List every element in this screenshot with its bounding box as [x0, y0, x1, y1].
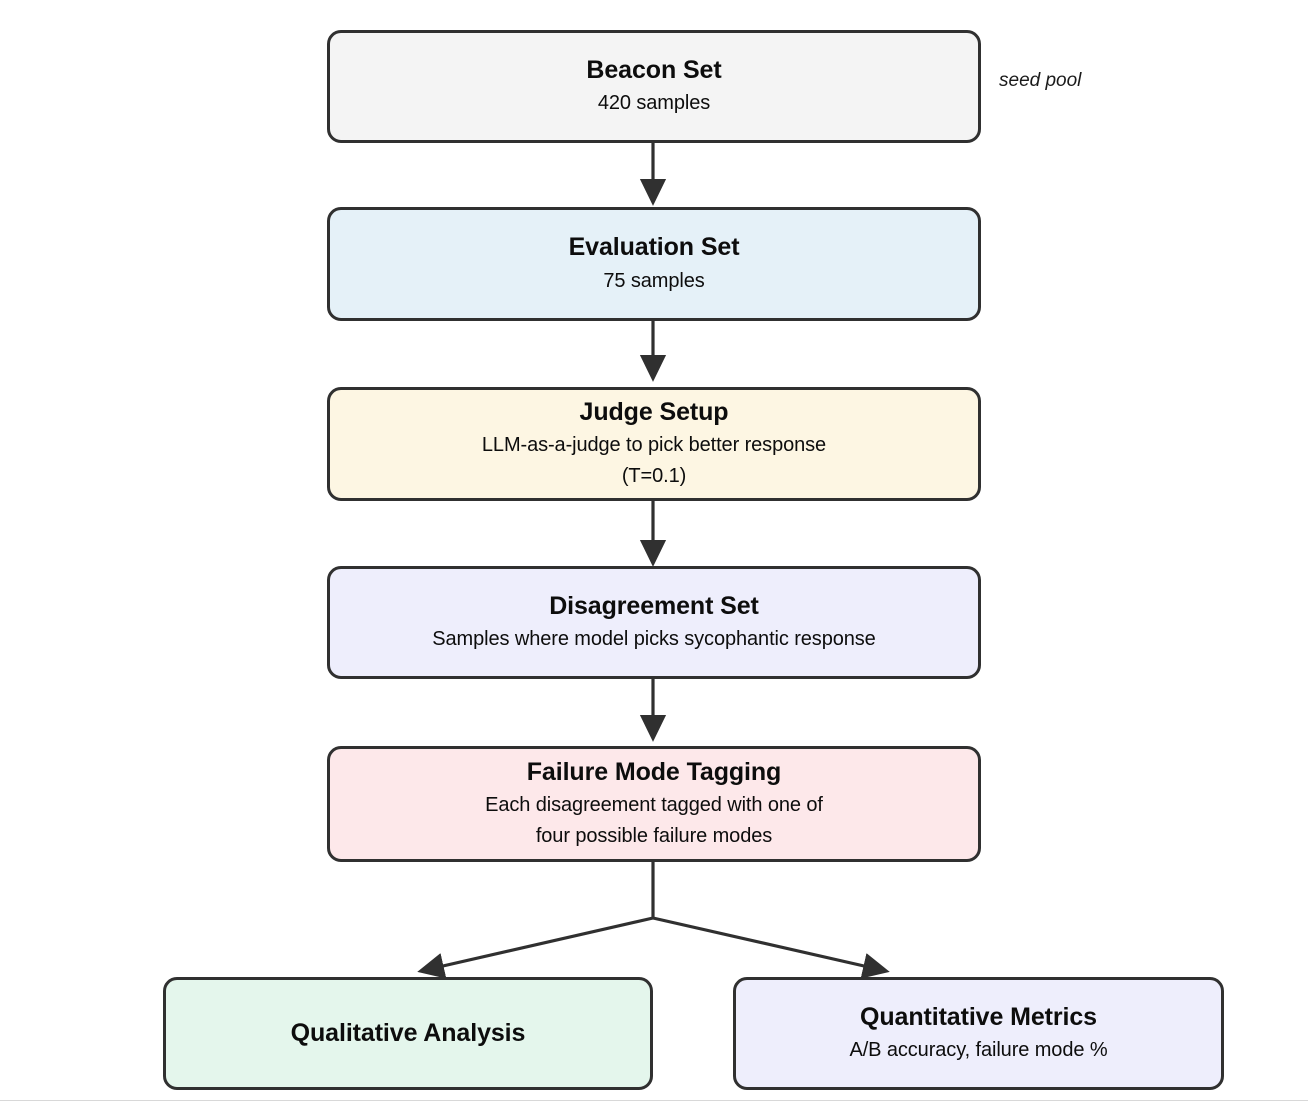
- node-title: Qualitative Analysis: [291, 1019, 526, 1049]
- node-evaluation-set[interactable]: Evaluation Set 75 samples: [327, 207, 981, 321]
- footer-divider: [0, 1100, 1308, 1101]
- edge-failure-to-qualitative: [421, 918, 653, 971]
- node-subtitle: 75 samples: [603, 268, 704, 295]
- node-title: Failure Mode Tagging: [527, 758, 781, 788]
- node-subtitle: LLM-as-a-judge to pick better response: [482, 432, 826, 459]
- node-judge-setup[interactable]: Judge Setup LLM-as-a-judge to pick bette…: [327, 387, 981, 501]
- edge-failure-to-quantitative: [653, 918, 886, 971]
- node-qualitative-analysis[interactable]: Qualitative Analysis: [163, 977, 653, 1090]
- node-disagreement-set[interactable]: Disagreement Set Samples where model pic…: [327, 566, 981, 679]
- node-subtitle: Each disagreement tagged with one of: [485, 792, 823, 819]
- node-quantitative-metrics[interactable]: Quantitative Metrics A/B accuracy, failu…: [733, 977, 1224, 1090]
- node-title: Quantitative Metrics: [860, 1003, 1097, 1033]
- node-title: Disagreement Set: [549, 592, 759, 622]
- node-title: Judge Setup: [580, 398, 729, 428]
- node-failure-mode-tagging[interactable]: Failure Mode Tagging Each disagreement t…: [327, 746, 981, 862]
- node-subtitle: Samples where model picks sycophantic re…: [432, 626, 875, 653]
- node-subtitle: 420 samples: [598, 90, 710, 117]
- node-beacon-set[interactable]: Beacon Set 420 samples: [327, 30, 981, 143]
- seed-pool-annotation: seed pool: [999, 70, 1081, 92]
- node-title: Evaluation Set: [569, 233, 740, 263]
- node-subtitle-line2: four possible failure modes: [536, 823, 772, 850]
- node-title: Beacon Set: [586, 56, 721, 86]
- node-subtitle: A/B accuracy, failure mode %: [849, 1037, 1107, 1064]
- node-subtitle-line2: (T=0.1): [622, 463, 686, 490]
- flowchart-diagram: Beacon Set 420 samples seed pool Evaluat…: [0, 0, 1308, 1113]
- connector-layer: [0, 0, 1308, 1113]
